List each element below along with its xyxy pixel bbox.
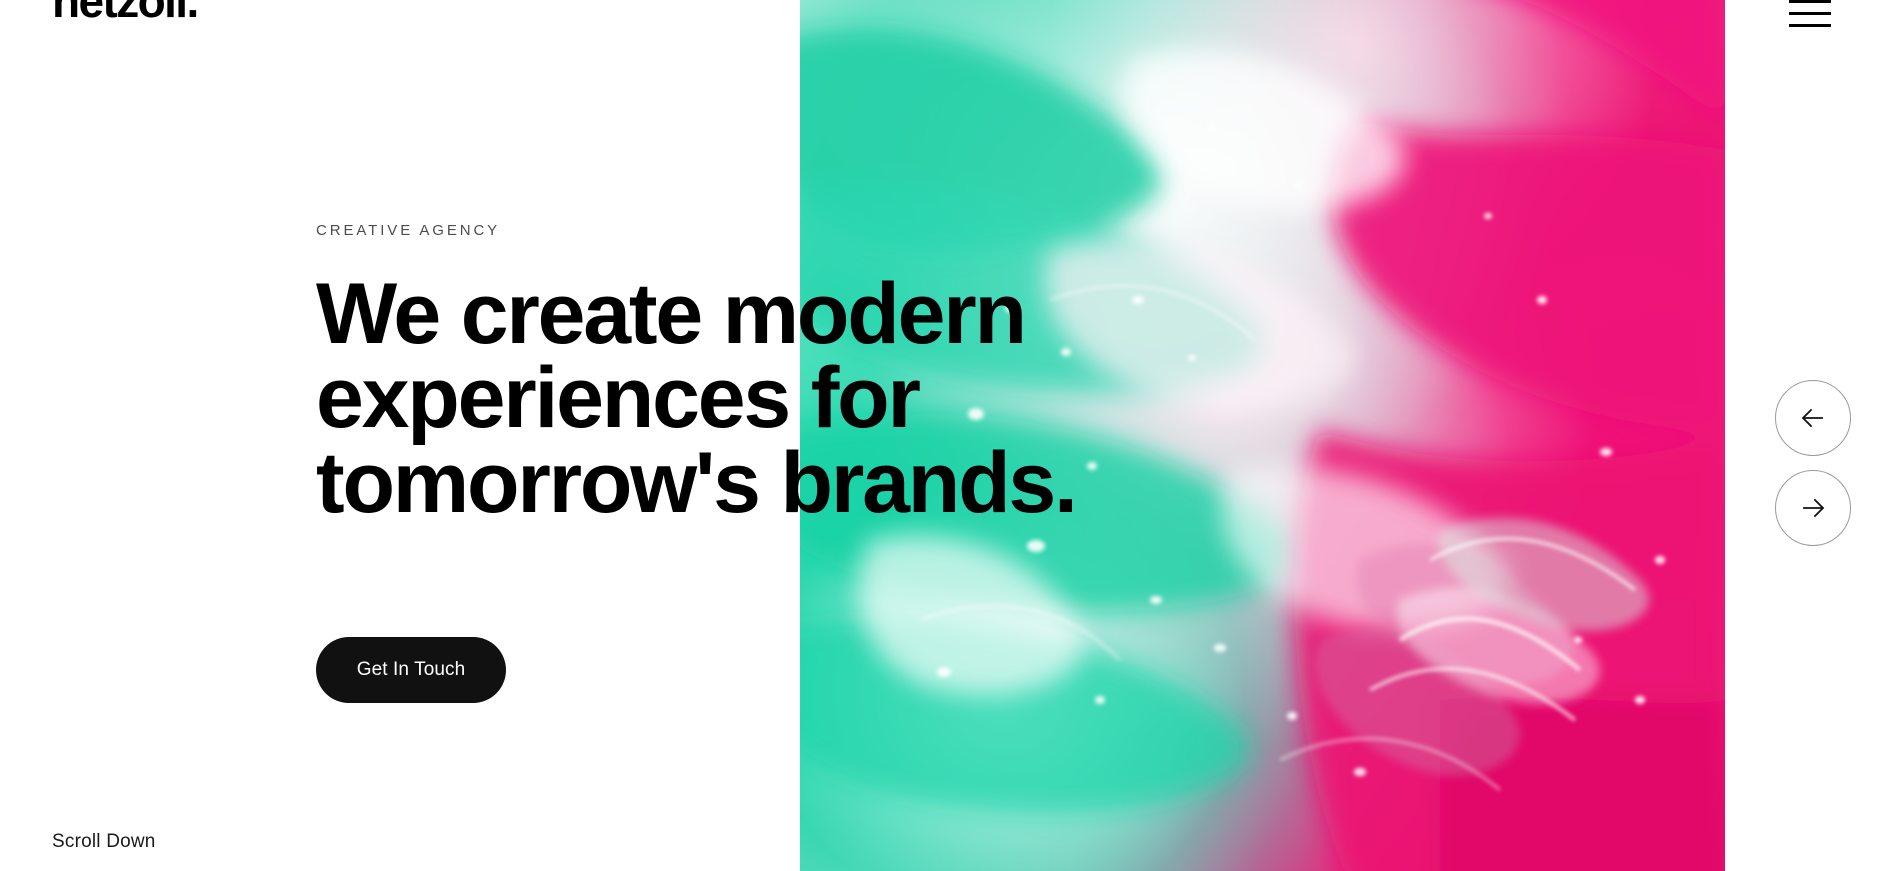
hero-page: netzoll. CREATIVE AGENCY We create moder… xyxy=(0,0,1883,871)
get-in-touch-button[interactable]: Get In Touch xyxy=(316,637,506,703)
headline-line-2: experiences for xyxy=(316,356,1316,440)
brand-logo[interactable]: netzoll. xyxy=(52,0,198,24)
slider-navigation xyxy=(1775,380,1851,546)
headline-line-1: We create modern xyxy=(316,272,1316,356)
page-title: We create modern experiences for tomorro… xyxy=(316,272,1316,525)
slider-next-button[interactable] xyxy=(1775,470,1851,546)
hamburger-bar-3 xyxy=(1789,24,1831,27)
hero-content: CREATIVE AGENCY We create modern experie… xyxy=(316,222,1316,525)
hamburger-bar-2 xyxy=(1789,12,1831,15)
slider-prev-button[interactable] xyxy=(1775,380,1851,456)
scroll-down-label[interactable]: Scroll Down xyxy=(52,831,156,853)
hamburger-bar-1 xyxy=(1789,0,1831,3)
hero-eyebrow: CREATIVE AGENCY xyxy=(316,222,1316,240)
arrow-right-icon xyxy=(1796,491,1830,525)
hamburger-menu-icon[interactable] xyxy=(1789,0,1831,30)
arrow-left-icon xyxy=(1796,401,1830,435)
headline-line-3: tomorrow's brands. xyxy=(316,441,1316,525)
